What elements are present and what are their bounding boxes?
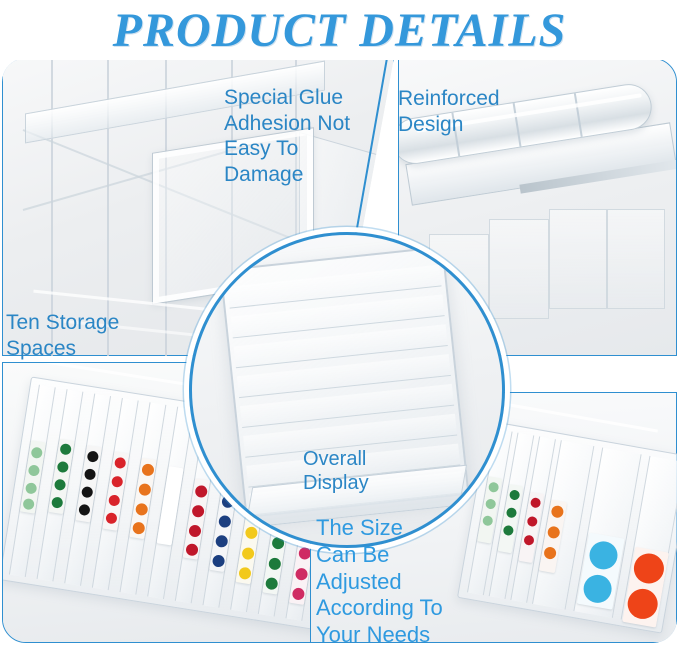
special-glue-caption: Special Glue Adhesion Not Easy To Damage [224, 85, 350, 187]
overall-display-caption: Overall Display [303, 447, 369, 496]
adjustable-size-caption: The Size Can Be Adjusted According To Yo… [316, 515, 443, 649]
reinforced-design-caption: Reinforced Design [398, 86, 500, 137]
overall-display-circle [189, 232, 505, 548]
ten-storage-spaces-caption: Ten Storage Spaces [6, 310, 119, 361]
page-title: PRODUCT DETAILS [113, 3, 567, 58]
page-header: PRODUCT DETAILS [0, 0, 679, 60]
